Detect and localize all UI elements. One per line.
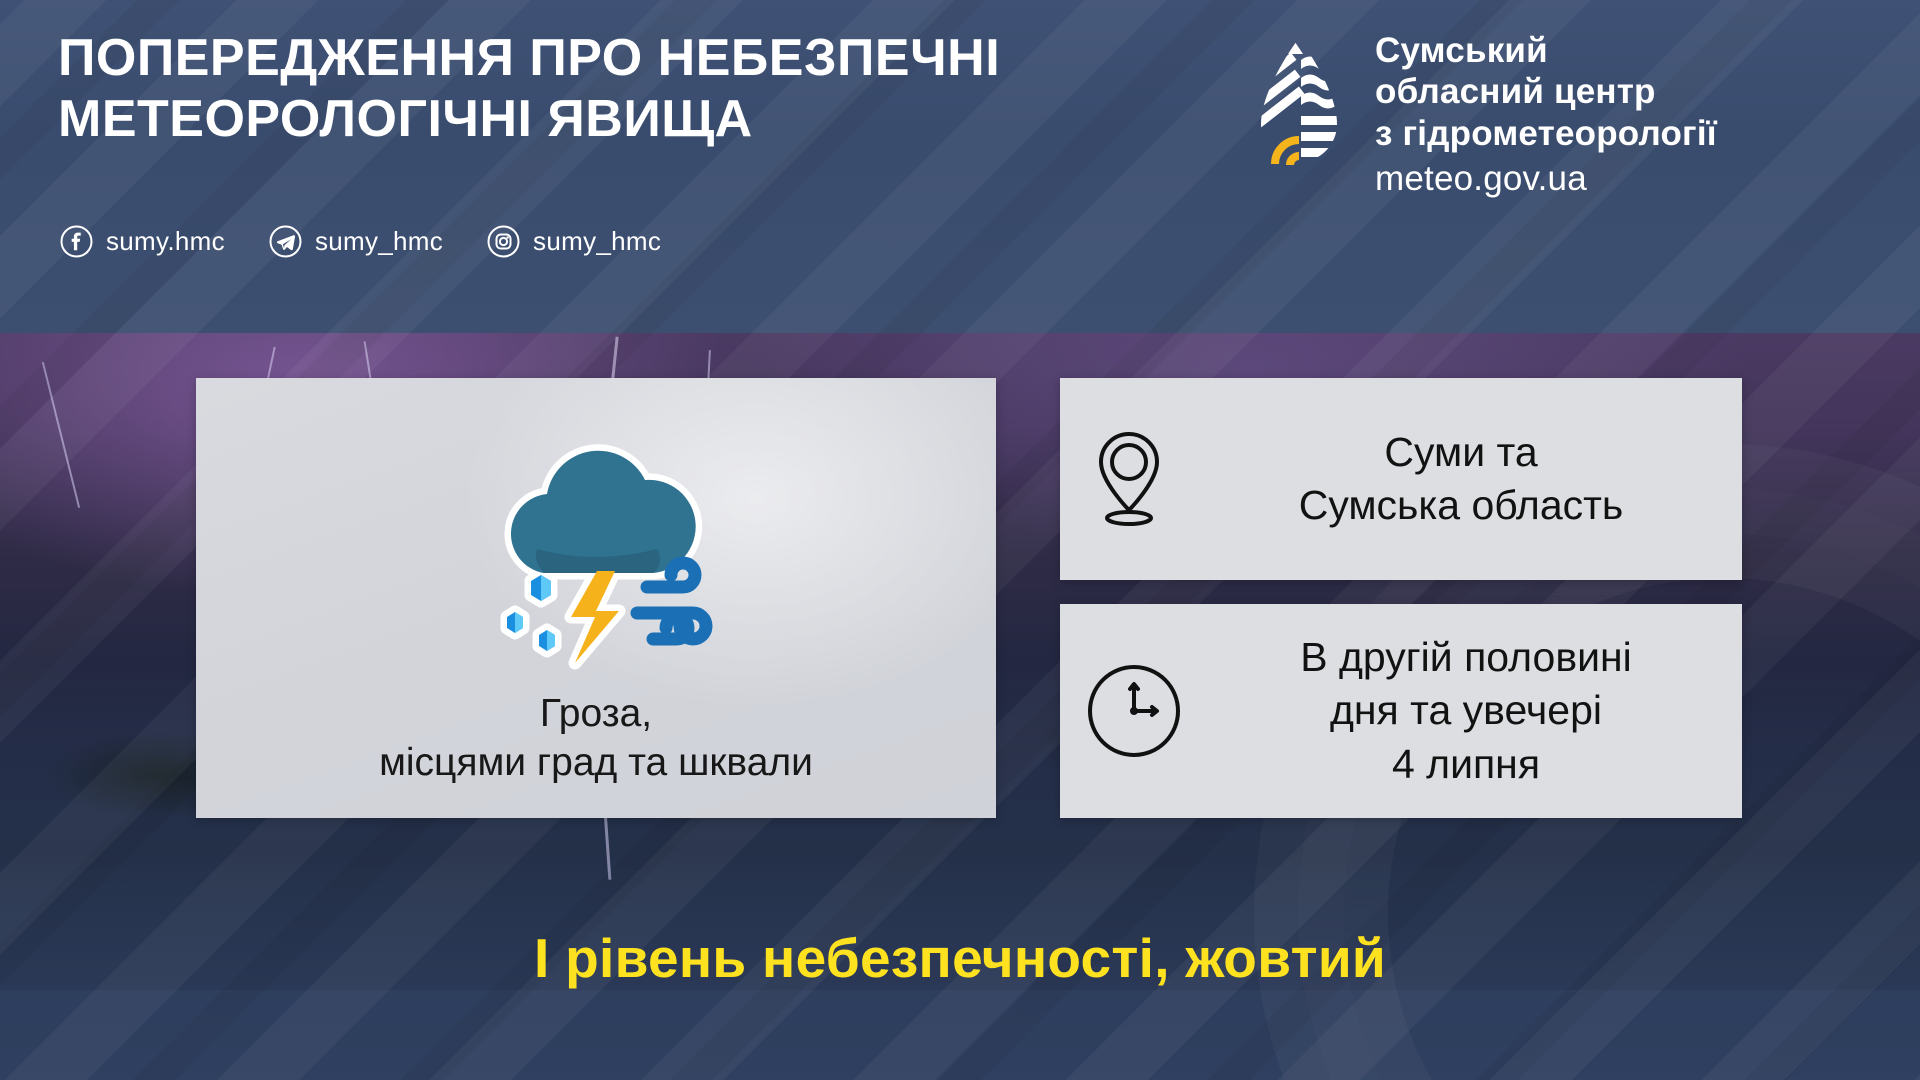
phenomenon-caption: Гроза, місцями град та шквали	[359, 689, 833, 818]
social-handle-instagram: sumy_hmc	[533, 226, 661, 257]
water-droplet-radar-icon	[1245, 36, 1353, 181]
danger-level-banner: I рівень небезпечності, жовтий	[0, 880, 1920, 1080]
organization-logo: Сумський обласний центр з гідрометеороло…	[1245, 30, 1717, 200]
time-text: В другій половині дня та увечері 4 липня	[1216, 631, 1716, 791]
location-card: Суми та Сумська область	[1060, 378, 1742, 580]
social-handle-telegram: sumy_hmc	[315, 226, 443, 257]
social-handle-facebook: sumy.hmc	[106, 226, 225, 257]
logo-line-2: обласний центр	[1375, 71, 1717, 112]
social-links: sumy.hmc sumy_hmc	[60, 225, 661, 258]
location-text: Суми та Сумська область	[1206, 426, 1716, 533]
phenomenon-card: Гроза, місцями град та шквали	[196, 378, 996, 818]
social-link-facebook[interactable]: sumy.hmc	[60, 225, 225, 258]
social-link-telegram[interactable]: sumy_hmc	[269, 225, 443, 258]
clock-icon	[1086, 663, 1182, 759]
logo-text-block: Сумський обласний центр з гідрометеороло…	[1375, 30, 1717, 200]
facebook-icon	[60, 225, 93, 258]
time-card: В другій половині дня та увечері 4 липня	[1060, 604, 1742, 818]
header: ПОПЕРЕДЖЕННЯ ПРО НЕБЕЗПЕЧНІ МЕТЕОРОЛОГІЧ…	[0, 0, 1920, 333]
logo-website-url[interactable]: meteo.gov.ua	[1375, 158, 1717, 200]
telegram-icon	[269, 225, 302, 258]
poster-canvas: ПОПЕРЕДЖЕННЯ ПРО НЕБЕЗПЕЧНІ МЕТЕОРОЛОГІЧ…	[0, 0, 1920, 1080]
thunderstorm-hail-wind-icon	[451, 431, 741, 681]
page-title: ПОПЕРЕДЖЕННЯ ПРО НЕБЕЗПЕЧНІ МЕТЕОРОЛОГІЧ…	[58, 28, 1068, 150]
map-pin-icon	[1086, 426, 1172, 532]
social-link-instagram[interactable]: sumy_hmc	[487, 225, 661, 258]
logo-line-3: з гідрометеорології	[1375, 113, 1717, 154]
danger-level-text: I рівень небезпечності, жовтий	[534, 926, 1386, 990]
instagram-icon	[487, 225, 520, 258]
logo-line-1: Сумський	[1375, 30, 1717, 71]
